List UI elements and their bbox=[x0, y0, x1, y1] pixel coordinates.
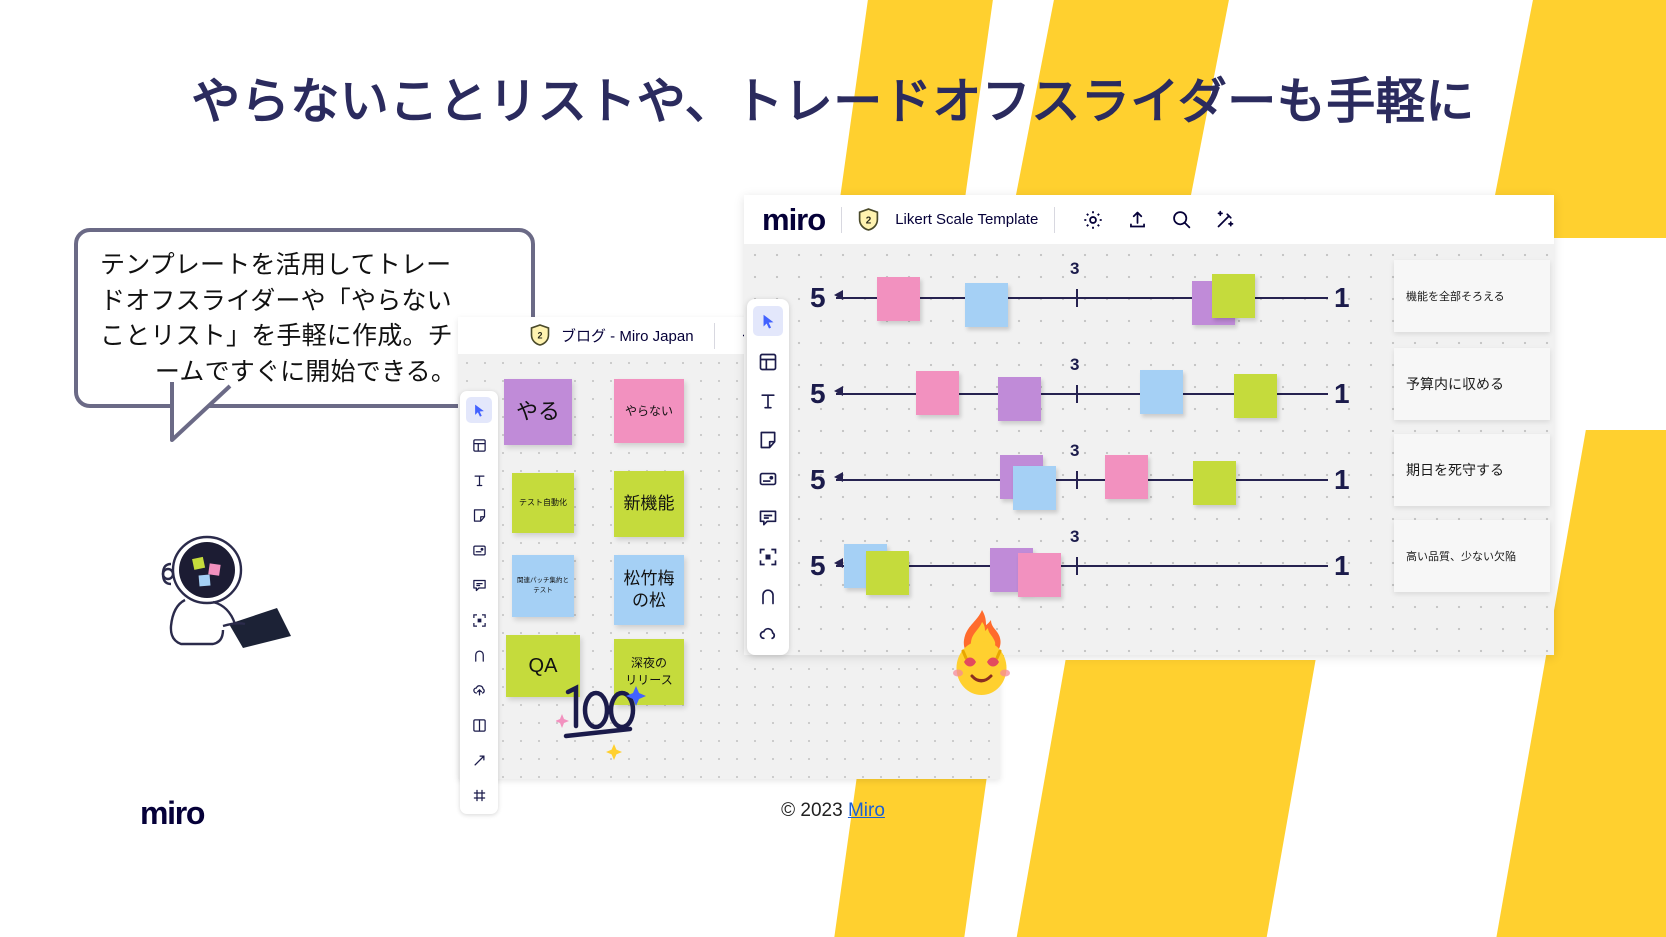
likert-marker[interactable] bbox=[998, 377, 1041, 421]
more-tool-icon[interactable] bbox=[755, 622, 781, 648]
sticky-note[interactable]: テスト自動化 bbox=[512, 473, 574, 533]
apps-tool-icon[interactable] bbox=[466, 712, 492, 738]
cursor-tool-icon[interactable] bbox=[753, 306, 783, 336]
text-tool-icon[interactable] bbox=[466, 467, 492, 493]
likert-marker[interactable] bbox=[1193, 461, 1236, 505]
sticky-note[interactable]: やらない bbox=[614, 379, 684, 443]
callout-line-1: テンプレートを活用してトレー bbox=[100, 248, 511, 284]
front-window-topbar: miro 2 Likert Scale Template bbox=[744, 195, 1554, 244]
pen-tool-icon[interactable] bbox=[466, 642, 492, 668]
scale-mid-value: 3 bbox=[1070, 527, 1079, 547]
fire-face-emoji bbox=[944, 610, 1019, 705]
callout-line-3: ことリスト」を手軽に作成。チ bbox=[100, 319, 511, 355]
svg-text:2: 2 bbox=[537, 331, 542, 341]
scale-mid-value: 3 bbox=[1070, 259, 1079, 279]
likert-row: 5 3 1 bbox=[804, 433, 1414, 525]
likert-category-labels: 機能を全部そろえる 予算内に収める 期日を死守する 高い品質、少ない欠陥 bbox=[1384, 244, 1554, 655]
likert-marker[interactable] bbox=[965, 283, 1008, 327]
likert-marker[interactable] bbox=[1105, 455, 1148, 499]
category-label[interactable]: 機能を全部そろえる bbox=[1394, 260, 1550, 332]
scale-left-value: 5 bbox=[810, 378, 826, 410]
comment-tool-icon[interactable] bbox=[755, 505, 781, 531]
astronaut-illustration bbox=[155, 530, 295, 655]
likert-marker[interactable] bbox=[866, 551, 909, 595]
hundred-points-doodle bbox=[556, 680, 648, 765]
scale-left-value: 5 bbox=[810, 550, 826, 582]
sticky-note[interactable]: 新機能 bbox=[614, 471, 684, 537]
frame-tool-icon[interactable] bbox=[466, 607, 492, 633]
divider bbox=[841, 207, 842, 233]
scale-right-value: 1 bbox=[1334, 550, 1350, 582]
likert-marker[interactable] bbox=[1212, 274, 1255, 318]
gear-icon[interactable] bbox=[1081, 208, 1105, 232]
front-window-toolbar[interactable] bbox=[747, 299, 789, 655]
callout-line-4: ームですぐに開始できる。 bbox=[100, 355, 511, 391]
copyright-text: © 2023 Miro bbox=[0, 800, 1666, 822]
card-tool-icon[interactable] bbox=[755, 466, 781, 492]
callout-tail-icon bbox=[168, 380, 278, 444]
category-label[interactable]: 高い品質、少ない欠陥 bbox=[1394, 520, 1550, 592]
magic-icon[interactable] bbox=[1213, 208, 1237, 232]
arrow-tool-icon[interactable] bbox=[466, 747, 492, 773]
svg-text:2: 2 bbox=[866, 215, 872, 226]
templates-tool-icon[interactable] bbox=[466, 432, 492, 458]
sticky-note-tool-icon[interactable] bbox=[755, 427, 781, 453]
sticky-note[interactable]: 松竹梅の松 bbox=[614, 555, 684, 625]
sticky-note[interactable]: 関連パッチ集約とテスト bbox=[512, 555, 574, 617]
likert-marker[interactable] bbox=[1140, 370, 1183, 414]
scale-left-value: 5 bbox=[810, 282, 826, 314]
text-tool-icon[interactable] bbox=[755, 388, 781, 414]
likert-marker[interactable] bbox=[1013, 466, 1056, 510]
miro-link[interactable]: Miro bbox=[848, 800, 885, 821]
divider bbox=[1054, 207, 1055, 233]
likert-marker[interactable] bbox=[1018, 553, 1061, 597]
templates-tool-icon[interactable] bbox=[755, 349, 781, 375]
scale-mid-value: 3 bbox=[1070, 355, 1079, 375]
miro-logo: miro bbox=[762, 202, 825, 238]
sticky-note-tool-icon[interactable] bbox=[466, 502, 492, 528]
card-tool-icon[interactable] bbox=[466, 537, 492, 563]
more-tool-icon[interactable] bbox=[466, 782, 492, 808]
likert-row: 5 3 1 bbox=[804, 251, 1414, 343]
page-title: やらないことリストや、トレードオフスライダーも手軽に bbox=[0, 62, 1666, 133]
document-title: Likert Scale Template bbox=[895, 211, 1038, 228]
likert-marker[interactable] bbox=[877, 277, 920, 321]
frame-tool-icon[interactable] bbox=[755, 544, 781, 570]
likert-marker[interactable] bbox=[1234, 374, 1277, 418]
upload-tool-icon[interactable] bbox=[466, 677, 492, 703]
shield-badge-icon: 2 bbox=[858, 208, 879, 231]
callout-line-2: ドオフスライダーや「やらない bbox=[100, 284, 511, 320]
likert-marker[interactable] bbox=[916, 371, 959, 415]
share-icon[interactable] bbox=[1125, 208, 1149, 232]
pen-tool-icon[interactable] bbox=[755, 583, 781, 609]
likert-row: 5 3 1 bbox=[804, 519, 1414, 611]
scale-right-value: 1 bbox=[1334, 378, 1350, 410]
search-icon[interactable] bbox=[1169, 208, 1193, 232]
cursor-tool-icon[interactable] bbox=[466, 397, 492, 423]
back-window-toolbar[interactable] bbox=[460, 391, 498, 814]
sticky-note[interactable]: やる bbox=[504, 379, 572, 445]
category-label[interactable]: 期日を死守する bbox=[1394, 434, 1550, 506]
scale-right-value: 1 bbox=[1334, 282, 1350, 314]
back-window-title: ブログ - Miro Japan bbox=[561, 325, 694, 346]
scale-left-value: 5 bbox=[810, 464, 826, 496]
scale-right-value: 1 bbox=[1334, 464, 1350, 496]
miro-window-likert[interactable]: miro 2 Likert Scale Template bbox=[744, 195, 1554, 655]
shield-badge-icon: 2 bbox=[530, 324, 551, 347]
copyright-prefix: © 2023 bbox=[781, 800, 848, 821]
scale-mid-value: 3 bbox=[1070, 441, 1079, 461]
comment-tool-icon[interactable] bbox=[466, 572, 492, 598]
category-label[interactable]: 予算内に収める bbox=[1394, 348, 1550, 420]
likert-row: 5 3 1 bbox=[804, 347, 1414, 439]
